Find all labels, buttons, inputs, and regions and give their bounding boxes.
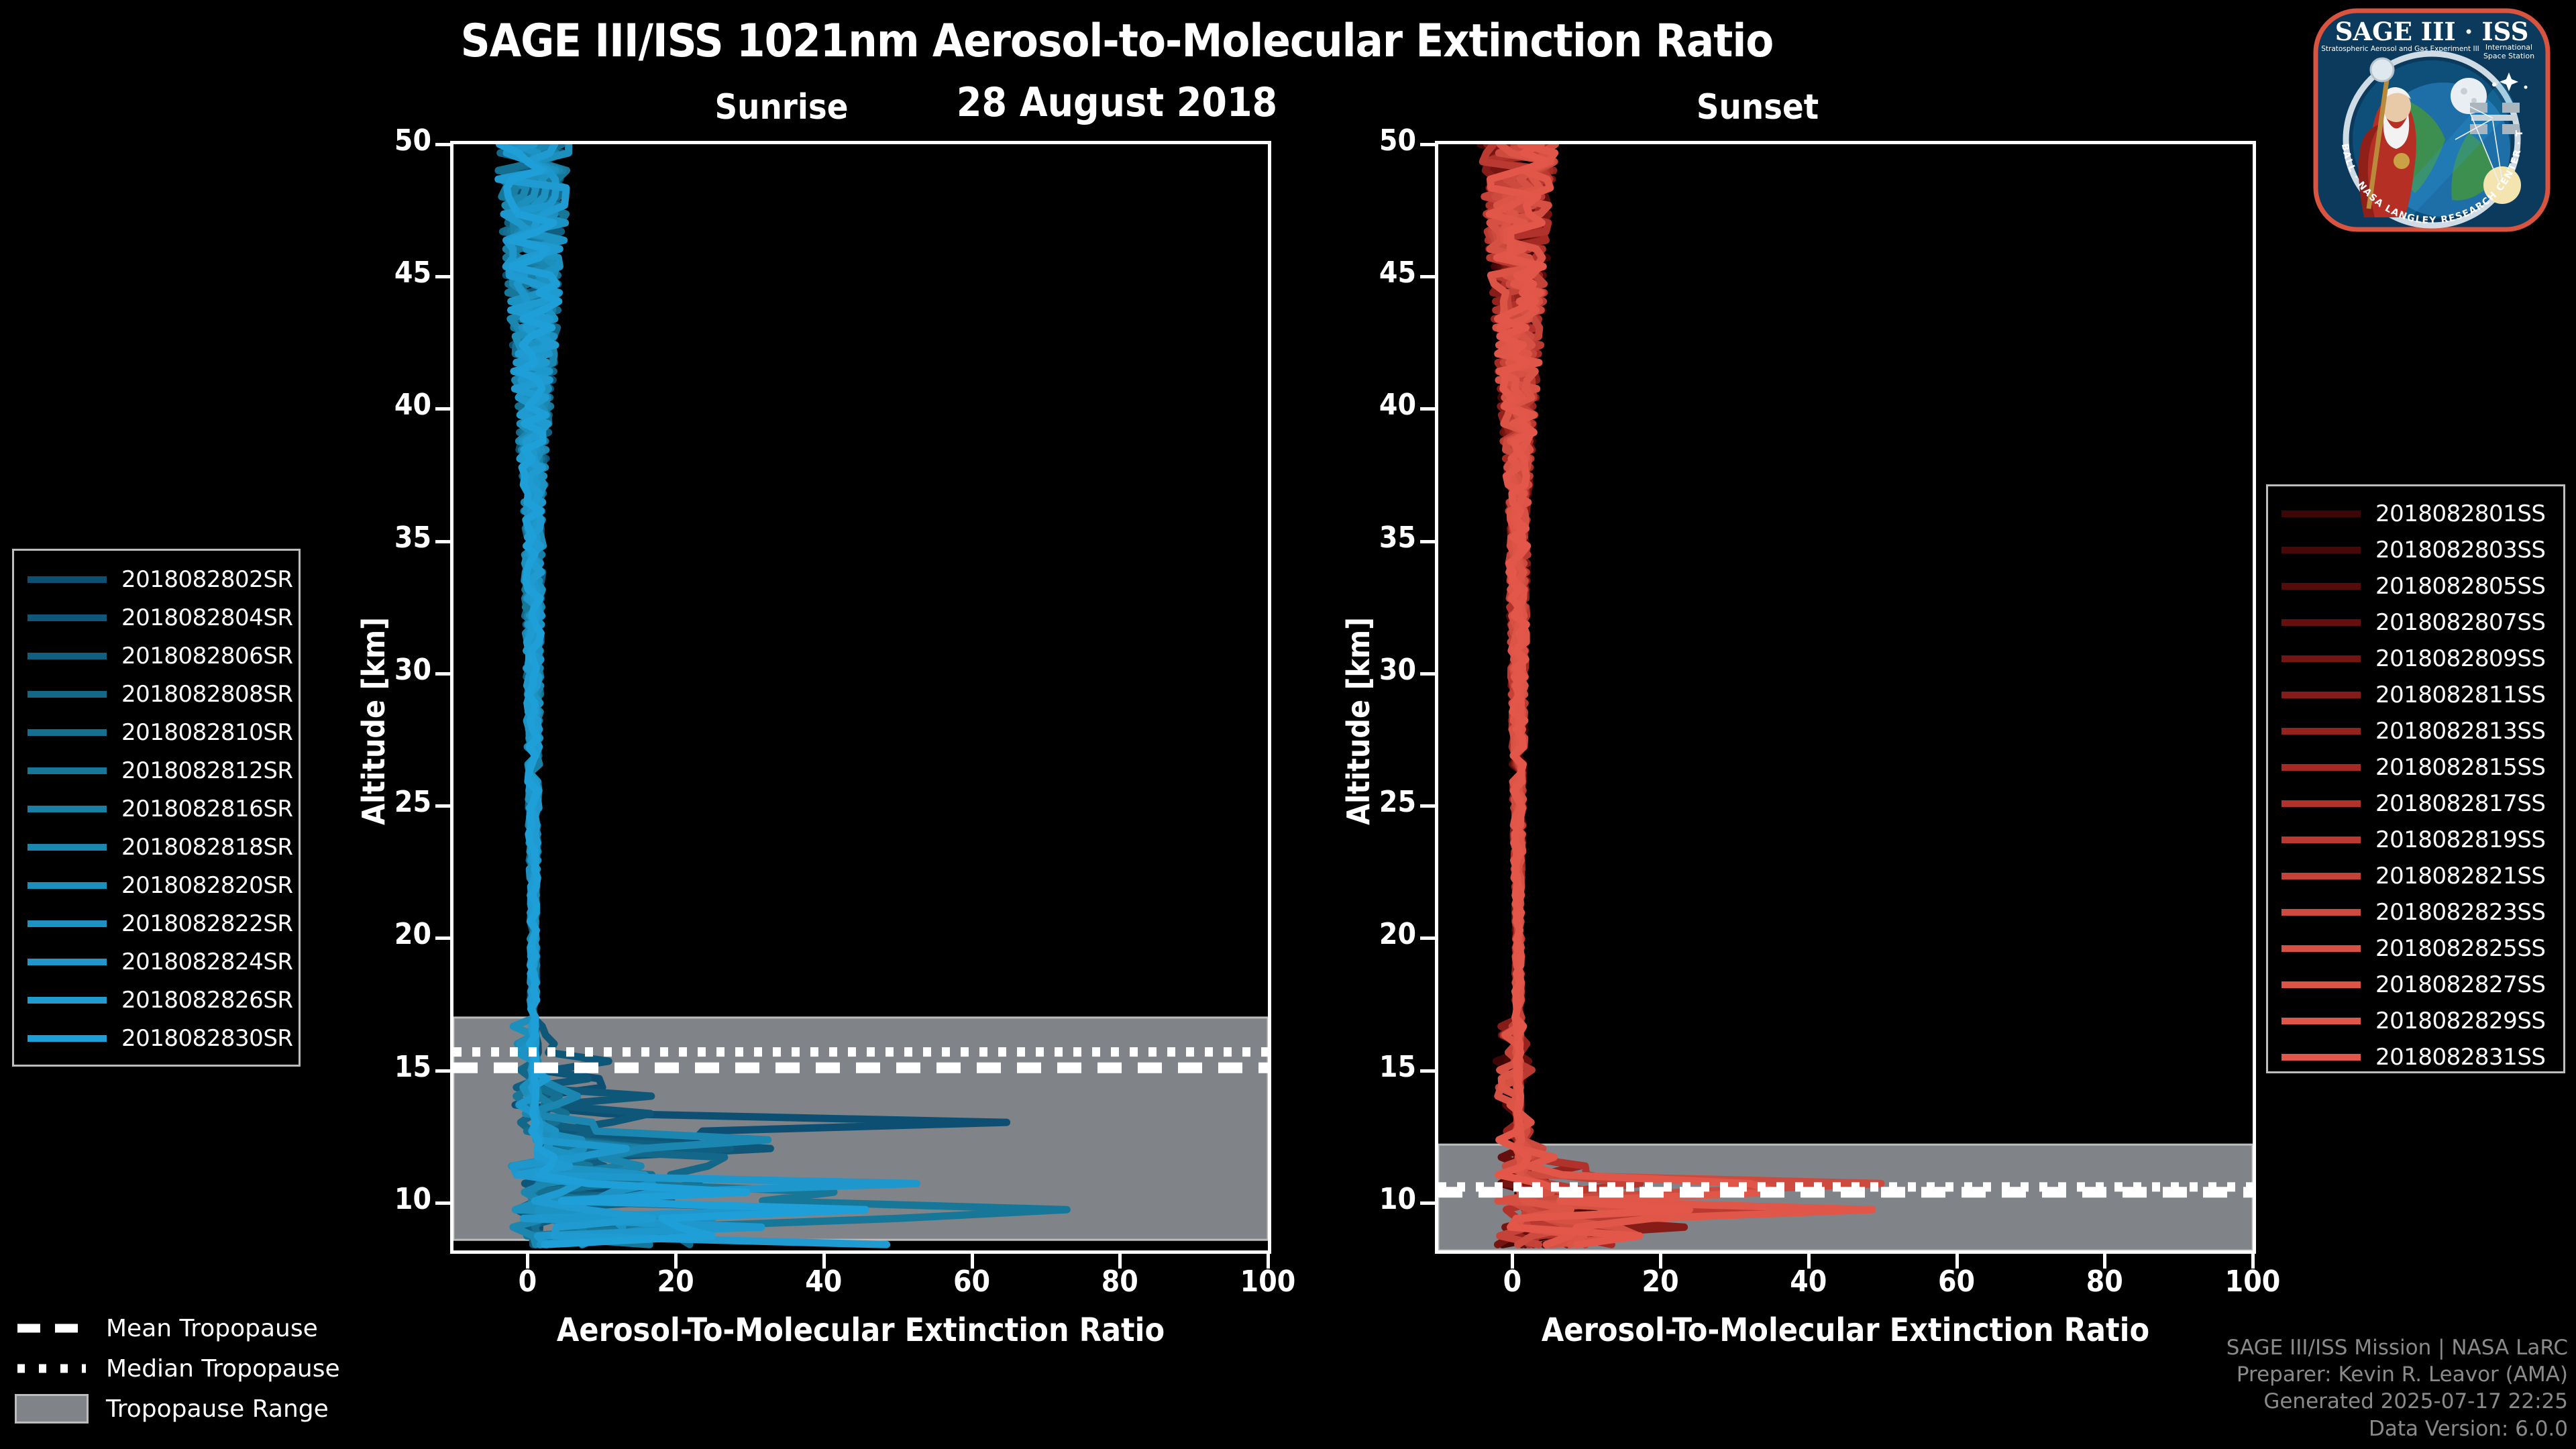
x-tick-label: 0 — [480, 1265, 574, 1299]
legend-color-swatch — [2282, 728, 2361, 735]
legend-item-label: 2018082831SS — [2375, 1044, 2545, 1071]
y-tick-mark — [1420, 804, 1435, 808]
filled-band-icon — [15, 1394, 89, 1424]
y-tick-mark — [435, 275, 450, 278]
y-tick-label: 30 — [1336, 653, 1416, 687]
sunrise-x-axis-label: Aerosol-To-Molecular Extinction Ratio — [450, 1311, 1271, 1349]
legend-item-label: 2018082826SR — [121, 987, 293, 1014]
legend-color-swatch — [28, 767, 107, 774]
legend-color-swatch — [28, 729, 107, 736]
credit-mission: SAGE III/ISS Mission | NASA LaRC — [2226, 1334, 2568, 1361]
legend-color-swatch — [2282, 873, 2361, 879]
legend-item[interactable]: 2018082812SR — [14, 751, 299, 790]
legend-item-label: 2018082812SR — [121, 757, 293, 784]
legend-item-label: 2018082829SS — [2375, 1008, 2545, 1034]
legend-item-label: 2018082804SR — [121, 604, 293, 631]
legend-item[interactable]: 2018082830SR — [14, 1019, 299, 1057]
legend-item-label: 2018082808SR — [121, 681, 293, 708]
legend-color-swatch — [28, 920, 107, 927]
legend-item[interactable]: 2018082825SS — [2268, 930, 2563, 967]
x-tick-label: 60 — [925, 1265, 1019, 1299]
legend-item[interactable]: 2018082811SS — [2268, 677, 2563, 713]
legend-item[interactable]: 2018082821SS — [2268, 858, 2563, 894]
y-tick-mark — [1420, 275, 1435, 278]
y-tick-mark — [435, 936, 450, 940]
sage-iii-iss-mission-patch-logo: SAGE III · ISSStratospheric Aerosol and … — [2301, 5, 2563, 233]
x-tick-label: 40 — [777, 1265, 871, 1299]
legend-item-label: 2018082810SR — [121, 719, 293, 746]
sunset-series-legend[interactable]: 2018082801SS2018082803SS2018082805SS2018… — [2266, 484, 2565, 1073]
credit-preparer: Preparer: Kevin R. Leavor (AMA) — [2226, 1361, 2568, 1388]
y-tick-mark — [435, 804, 450, 808]
legend-item[interactable]: 2018082804SR — [14, 598, 299, 637]
y-tick-label: 10 — [1336, 1182, 1416, 1216]
y-tick-mark — [1420, 936, 1435, 940]
legend-item[interactable]: 2018082802SR — [14, 560, 299, 598]
x-tick-mark — [1267, 1254, 1270, 1269]
legend-color-swatch — [2282, 764, 2361, 771]
y-tick-mark — [435, 1069, 450, 1073]
tropopause-legend: Mean Tropopause Median Tropopause Tropop… — [15, 1308, 340, 1429]
legend-item[interactable]: 2018082808SR — [14, 675, 299, 713]
legend-item[interactable]: 2018082822SR — [14, 904, 299, 943]
y-tick-mark — [1420, 143, 1435, 146]
legend-row-median-tropopause: Median Tropopause — [15, 1348, 340, 1389]
y-tick-label: 25 — [1336, 785, 1416, 819]
legend-item-label: 2018082815SS — [2375, 754, 2545, 781]
y-tick-label: 25 — [351, 785, 431, 819]
logo-title: SAGE III · ISS — [2335, 17, 2529, 46]
logo-subtitle-left: Stratospheric Aerosol and Gas Experiment… — [2321, 45, 2479, 53]
y-tick-label: 20 — [1336, 917, 1416, 951]
legend-color-swatch — [28, 576, 107, 583]
sunrise-plot-canvas — [453, 144, 1268, 1250]
profile-line — [1491, 144, 1690, 1244]
y-tick-label: 15 — [1336, 1050, 1416, 1084]
legend-item-label: 2018082809SS — [2375, 645, 2545, 672]
x-tick-label: 40 — [1762, 1265, 1856, 1299]
x-tick-label: 0 — [1465, 1265, 1559, 1299]
x-tick-label: 80 — [2057, 1265, 2151, 1299]
legend-color-swatch — [28, 653, 107, 659]
y-tick-mark — [1420, 540, 1435, 543]
y-tick-mark — [435, 1201, 450, 1205]
x-tick-mark — [2251, 1254, 2255, 1269]
legend-item-label: 2018082802SR — [121, 566, 293, 593]
y-tick-label: 45 — [1336, 256, 1416, 290]
legend-color-swatch — [2282, 583, 2361, 590]
credit-data-version: Data Version: 6.0.0 — [2226, 1415, 2568, 1442]
legend-item-label: 2018082822SR — [121, 910, 293, 937]
dotted-line-icon — [15, 1360, 89, 1377]
legend-item-label: 2018082818SR — [121, 834, 293, 861]
sunrise-series-legend[interactable]: 2018082802SR2018082804SR2018082806SR2018… — [12, 549, 301, 1067]
y-tick-mark — [435, 540, 450, 543]
legend-color-swatch — [2282, 547, 2361, 553]
x-tick-mark — [1659, 1254, 1662, 1269]
legend-color-swatch — [2282, 511, 2361, 517]
legend-color-swatch — [2282, 800, 2361, 807]
x-tick-mark — [2103, 1254, 2106, 1269]
y-tick-mark — [1420, 1201, 1435, 1205]
legend-color-swatch — [28, 691, 107, 698]
legend-color-swatch — [28, 997, 107, 1004]
legend-item-label: 2018082830SR — [121, 1025, 293, 1052]
y-tick-label: 30 — [351, 653, 431, 687]
y-tick-label: 40 — [1336, 388, 1416, 422]
legend-item[interactable]: 2018082807SS — [2268, 604, 2563, 641]
y-tick-label: 10 — [351, 1182, 431, 1216]
svg-text:International: International — [2485, 43, 2532, 52]
legend-item-label: 2018082801SS — [2375, 500, 2545, 527]
legend-item[interactable]: 2018082827SS — [2268, 967, 2563, 1003]
legend-color-swatch — [2282, 655, 2361, 662]
legend-item[interactable]: 2018082819SS — [2268, 822, 2563, 858]
legend-item-label: 2018082803SS — [2375, 537, 2545, 563]
legend-item[interactable]: 2018082824SR — [14, 943, 299, 981]
credit-block: SAGE III/ISS Mission | NASA LaRC Prepare… — [2226, 1334, 2568, 1442]
y-tick-mark — [435, 143, 450, 146]
legend-item-label: 2018082811SS — [2375, 682, 2545, 708]
x-tick-mark — [822, 1254, 826, 1269]
y-tick-label: 50 — [1336, 123, 1416, 158]
mean-tropopause-label: Mean Tropopause — [106, 1315, 318, 1342]
legend-item[interactable]: 2018082820SR — [14, 866, 299, 904]
legend-item-label: 2018082821SS — [2375, 863, 2545, 890]
legend-color-swatch — [28, 806, 107, 812]
x-tick-mark — [1511, 1254, 1514, 1269]
legend-item[interactable]: 2018082826SR — [14, 981, 299, 1019]
profile-line — [1489, 144, 1872, 1244]
legend-item[interactable]: 2018082817SS — [2268, 786, 2563, 822]
x-tick-mark — [1118, 1254, 1122, 1269]
sunrise-panel-title: Sunrise — [641, 87, 922, 127]
legend-color-swatch — [2282, 837, 2361, 843]
y-tick-label: 50 — [351, 123, 431, 158]
legend-color-swatch — [28, 1035, 107, 1042]
legend-item[interactable]: 2018082815SS — [2268, 749, 2563, 786]
legend-item-label: 2018082823SS — [2375, 899, 2545, 926]
legend-item-label: 2018082817SS — [2375, 790, 2545, 817]
legend-color-swatch — [2282, 619, 2361, 626]
y-tick-mark — [435, 672, 450, 676]
legend-item[interactable]: 2018082816SR — [14, 790, 299, 828]
x-tick-mark — [674, 1254, 678, 1269]
x-tick-label: 100 — [2206, 1265, 2300, 1299]
x-tick-mark — [971, 1254, 974, 1269]
legend-item-label: 2018082827SS — [2375, 971, 2545, 998]
y-tick-mark — [1420, 407, 1435, 411]
legend-item-label: 2018082813SS — [2375, 718, 2545, 745]
sunset-x-axis-label: Aerosol-To-Molecular Extinction Ratio — [1435, 1311, 2256, 1349]
legend-color-swatch — [2282, 1018, 2361, 1024]
y-tick-mark — [435, 407, 450, 411]
sunset-plot-canvas — [1438, 144, 2253, 1250]
legend-color-swatch — [28, 614, 107, 621]
legend-color-swatch — [2282, 909, 2361, 916]
dashed-line-icon — [15, 1320, 89, 1337]
x-tick-mark — [1955, 1254, 1959, 1269]
legend-item[interactable]: 2018082801SS — [2268, 496, 2563, 532]
legend-item[interactable]: 2018082806SR — [14, 637, 299, 675]
y-tick-label: 35 — [351, 521, 431, 555]
x-tick-label: 60 — [1910, 1265, 2004, 1299]
legend-item[interactable]: 2018082803SS — [2268, 532, 2563, 568]
y-tick-label: 35 — [1336, 521, 1416, 555]
x-tick-label: 20 — [1613, 1265, 1707, 1299]
legend-item-label: 2018082805SS — [2375, 573, 2545, 600]
legend-item[interactable]: 2018082829SS — [2268, 1003, 2563, 1039]
legend-item[interactable]: 2018082818SR — [14, 828, 299, 866]
x-tick-label: 100 — [1221, 1265, 1315, 1299]
legend-item[interactable]: 2018082810SR — [14, 713, 299, 751]
x-tick-mark — [1807, 1254, 1811, 1269]
credit-generated: Generated 2025-07-17 22:25 — [2226, 1388, 2568, 1415]
legend-color-swatch — [2282, 1054, 2361, 1061]
legend-color-swatch — [28, 844, 107, 851]
page-subtitle: 28 August 2018 — [0, 79, 2234, 126]
legend-item[interactable]: 2018082823SS — [2268, 894, 2563, 930]
legend-item[interactable]: 2018082831SS — [2268, 1039, 2563, 1075]
legend-color-swatch — [28, 959, 107, 965]
y-tick-mark — [1420, 672, 1435, 676]
legend-color-swatch — [2282, 945, 2361, 952]
legend-item-label: 2018082807SS — [2375, 609, 2545, 636]
legend-item-label: 2018082820SR — [121, 872, 293, 899]
y-tick-label: 40 — [351, 388, 431, 422]
y-tick-mark — [1420, 1069, 1435, 1073]
x-tick-label: 20 — [629, 1265, 722, 1299]
median-tropopause-label: Median Tropopause — [106, 1355, 340, 1383]
legend-item[interactable]: 2018082813SS — [2268, 713, 2563, 749]
legend-color-swatch — [2282, 981, 2361, 988]
svg-text:Space Station: Space Station — [2483, 52, 2534, 60]
legend-row-mean-tropopause: Mean Tropopause — [15, 1308, 340, 1348]
legend-item-label: 2018082819SS — [2375, 826, 2545, 853]
legend-item[interactable]: 2018082805SS — [2268, 568, 2563, 604]
legend-item-label: 2018082806SR — [121, 643, 293, 669]
tropopause-range-label: Tropopause Range — [106, 1395, 329, 1423]
page-title: SAGE III/ISS 1021nm Aerosol-to-Molecular… — [0, 15, 2234, 68]
y-tick-label: 45 — [351, 256, 431, 290]
profile-line — [1495, 144, 1881, 1244]
legend-color-swatch — [2282, 692, 2361, 698]
legend-item[interactable]: 2018082809SS — [2268, 641, 2563, 677]
legend-color-swatch — [28, 882, 107, 889]
sunset-panel-title: Sunset — [1617, 87, 1898, 127]
legend-item-label: 2018082816SR — [121, 796, 293, 822]
legend-item-label: 2018082825SS — [2375, 935, 2545, 962]
x-tick-mark — [526, 1254, 529, 1269]
y-tick-label: 20 — [351, 917, 431, 951]
legend-row-tropopause-range: Tropopause Range — [15, 1389, 340, 1429]
x-tick-label: 80 — [1073, 1265, 1167, 1299]
legend-item-label: 2018082824SR — [121, 949, 293, 975]
y-tick-label: 15 — [351, 1050, 431, 1084]
